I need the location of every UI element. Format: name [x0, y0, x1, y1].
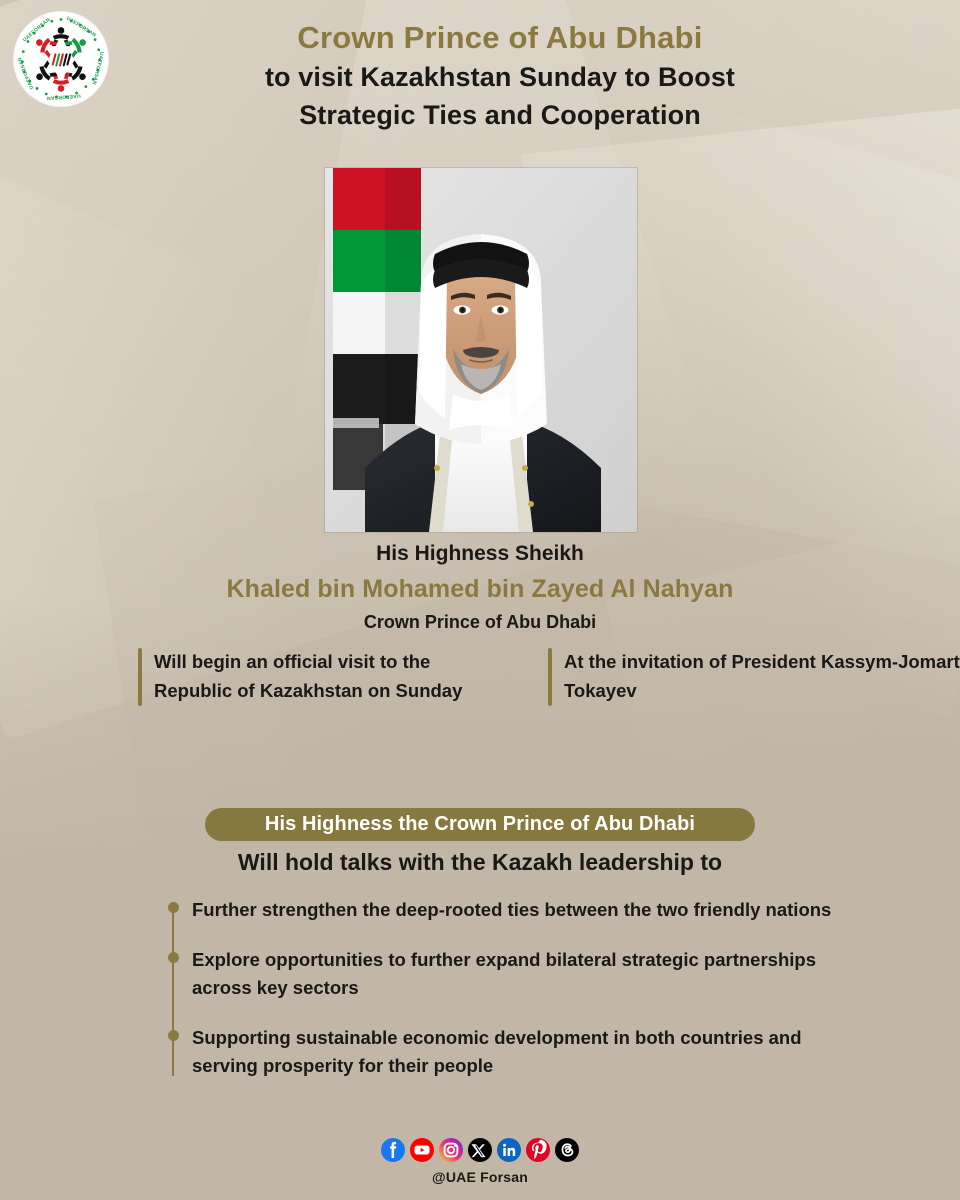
status-badge: His Highness the Crown Prince of Abu Dha… [205, 808, 755, 841]
infographic-poster: UAEFORSAN UAEFORSAN UAEFORSAN UAEFORSAN … [0, 0, 960, 1200]
fact-columns: Will begin an official visit to the Repu… [0, 648, 960, 706]
bullet-list: Further strengthen the deep-rooted ties … [168, 896, 868, 1103]
list-item-text: Explore opportunities to further expand … [192, 946, 868, 1002]
footer: @UAE Forsan [0, 1138, 960, 1185]
fact-text: At the invitation of President Kassym-Jo… [564, 648, 960, 706]
headline-line-3: Strategic Ties and Cooperation [120, 96, 880, 134]
pinterest-icon[interactable] [526, 1138, 550, 1162]
accent-bar [548, 648, 552, 706]
fact-item-0: Will begin an official visit to the Repu… [0, 648, 480, 706]
person-role: Crown Prince of Abu Dhabi [0, 608, 960, 637]
page-title: Crown Prince of Abu Dhabi to visit Kazak… [120, 18, 880, 134]
linkedin-icon[interactable] [497, 1138, 521, 1162]
person-name: Khaled bin Mohamed bin Zayed Al Nahyan [0, 570, 960, 608]
portrait-photo [325, 168, 637, 532]
list-item: Further strengthen the deep-rooted ties … [168, 896, 868, 924]
bullet-dot-icon [168, 952, 179, 963]
person-name-block: His Highness Sheikh Khaled bin Mohamed b… [0, 538, 960, 636]
x-icon[interactable] [468, 1138, 492, 1162]
social-links [0, 1138, 960, 1162]
list-item: Supporting sustainable economic developm… [168, 1024, 868, 1080]
fact-item-1: At the invitation of President Kassym-Jo… [480, 648, 960, 706]
list-item-text: Further strengthen the deep-rooted ties … [192, 896, 868, 924]
bullet-dot-icon [168, 1030, 179, 1041]
headline-line-1: Crown Prince of Abu Dhabi [120, 18, 880, 58]
youtube-icon[interactable] [410, 1138, 434, 1162]
badge-label: His Highness the Crown Prince of Abu Dha… [265, 813, 695, 836]
bullet-dot-icon [168, 902, 179, 913]
instagram-icon[interactable] [439, 1138, 463, 1162]
accent-bar [138, 648, 142, 706]
facebook-icon[interactable] [381, 1138, 405, 1162]
list-item-text: Supporting sustainable economic developm… [192, 1024, 868, 1080]
section-subhead: Will hold talks with the Kazakh leadersh… [0, 849, 960, 876]
social-handle: @UAE Forsan [0, 1169, 960, 1185]
list-item: Explore opportunities to further expand … [168, 946, 868, 1002]
headline-line-2: to visit Kazakhstan Sunday to Boost [120, 58, 880, 96]
threads-icon[interactable] [555, 1138, 579, 1162]
uae-forsan-emblem-icon: UAEFORSAN UAEFORSAN UAEFORSAN UAEFORSAN … [14, 12, 108, 106]
person-honorific: His Highness Sheikh [0, 538, 960, 570]
fact-text: Will begin an official visit to the Repu… [154, 648, 480, 706]
